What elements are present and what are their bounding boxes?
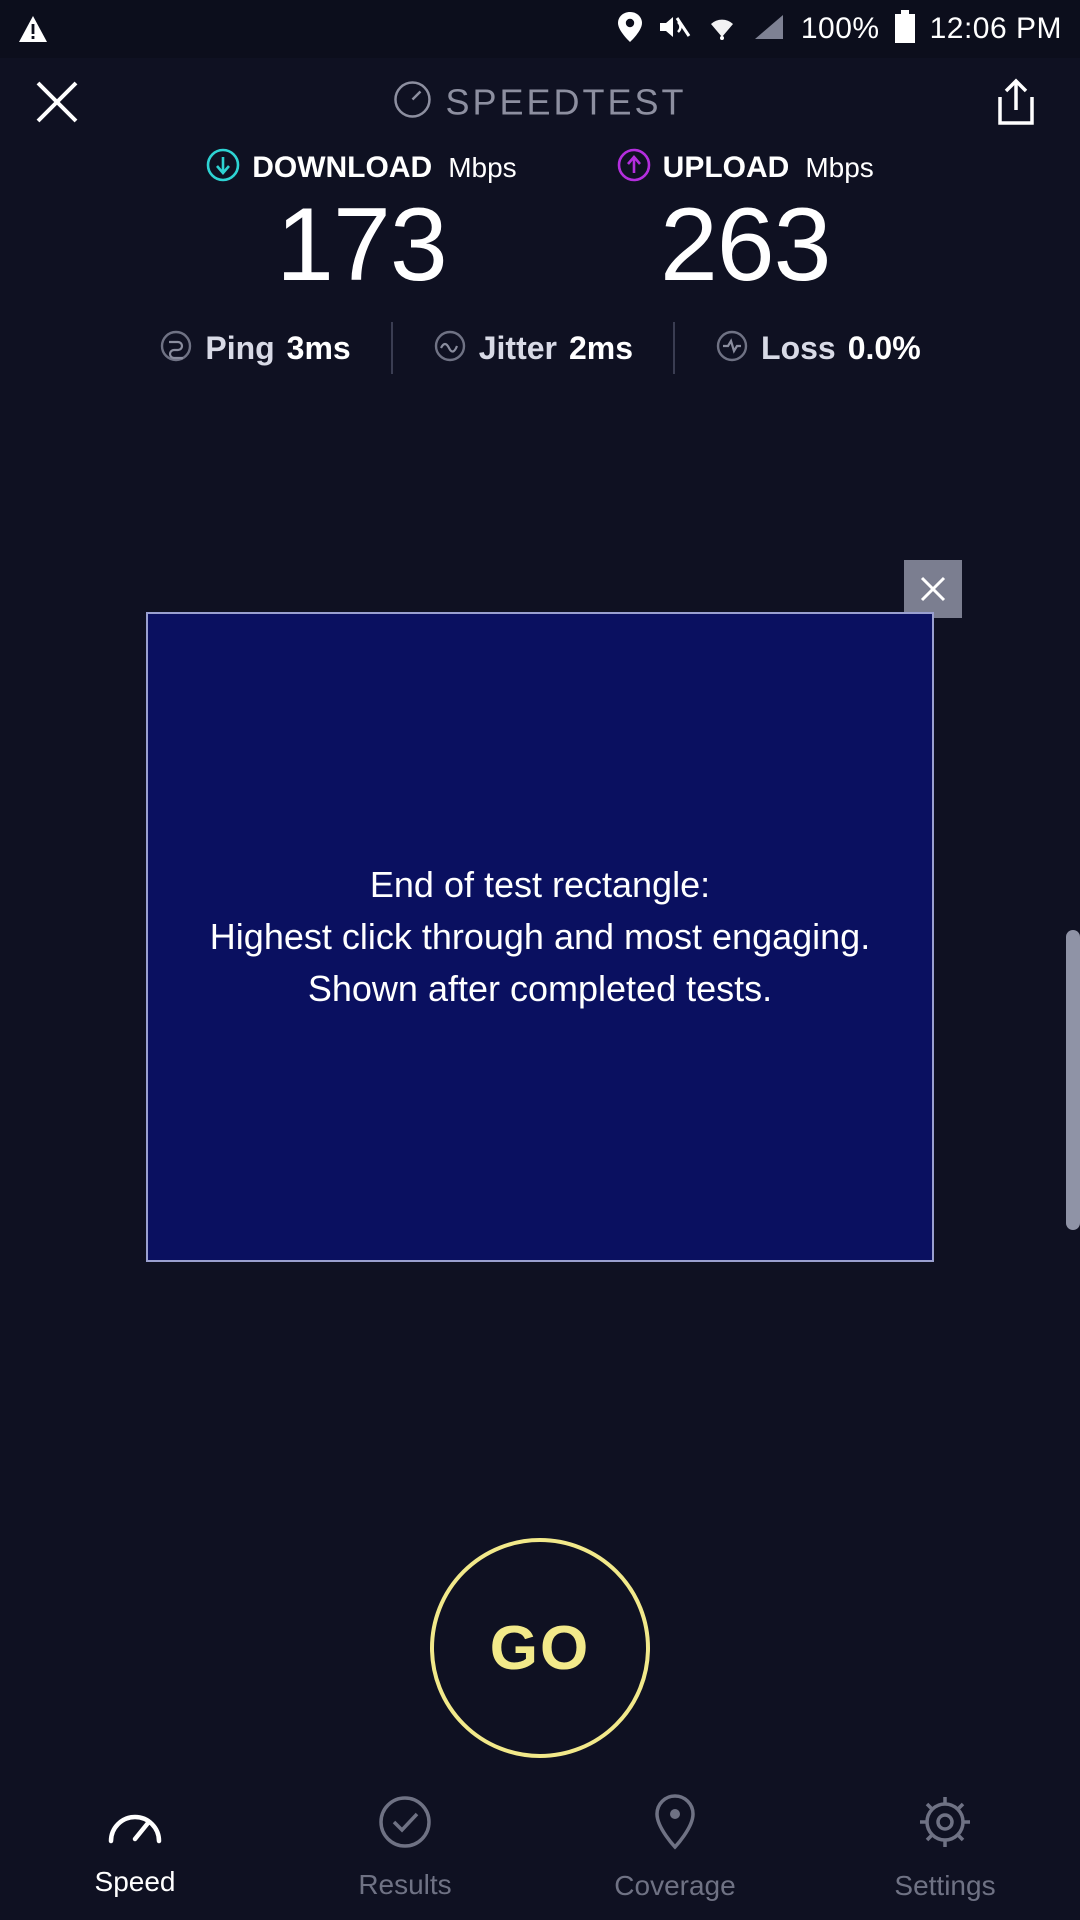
- download-header: DOWNLOAD Mbps: [206, 148, 516, 187]
- check-circle-icon: [377, 1794, 433, 1855]
- scrollbar[interactable]: [1066, 930, 1080, 1230]
- advertisement: End of test rectangle: Highest click thr…: [146, 612, 934, 1262]
- latency-metrics-row: Ping 3ms Jitter 2ms: [0, 322, 1080, 374]
- ping-label: Ping: [205, 330, 274, 367]
- ad-line-2: Highest click through and most engaging.: [210, 911, 870, 963]
- speed-metrics-row: DOWNLOAD Mbps 173 UPLOAD Mbps: [0, 148, 1080, 300]
- wifi-icon: [705, 13, 739, 46]
- loss-label: Loss: [761, 330, 836, 367]
- gear-icon: [916, 1793, 974, 1856]
- ping-metric: Ping 3ms: [119, 329, 390, 368]
- status-bar-left: [18, 15, 48, 43]
- nav-label-coverage: Coverage: [614, 1870, 735, 1902]
- brand-title: SPEEDTEST: [445, 81, 686, 123]
- clock-label: 12:06 PM: [930, 12, 1062, 46]
- warning-triangle-icon: [18, 15, 48, 43]
- ad-banner[interactable]: End of test rectangle: Highest click thr…: [146, 612, 934, 1262]
- share-icon[interactable]: [994, 77, 1038, 127]
- battery-full-icon: [894, 10, 916, 49]
- cellular-signal-icon: [753, 13, 787, 46]
- loss-value: 0.0%: [848, 330, 921, 367]
- brand: SPEEDTEST: [393, 81, 686, 124]
- status-bar-right: 100% 12:06 PM: [617, 10, 1062, 49]
- download-value: 173: [276, 191, 447, 300]
- upload-arrow-icon: [617, 148, 651, 187]
- nav-label-settings: Settings: [894, 1870, 995, 1902]
- volume-mute-icon: [657, 12, 691, 47]
- test-results: DOWNLOAD Mbps 173 UPLOAD Mbps: [0, 140, 1080, 374]
- jitter-icon: [433, 329, 467, 368]
- nav-item-results[interactable]: Results: [270, 1794, 540, 1901]
- nav-item-speed[interactable]: Speed: [0, 1797, 270, 1898]
- nav-item-settings[interactable]: Settings: [810, 1793, 1080, 1902]
- jitter-label: Jitter: [479, 330, 557, 367]
- go-button-label: GO: [490, 1613, 590, 1684]
- status-bar: 100% 12:06 PM: [0, 0, 1080, 58]
- ad-close-icon[interactable]: [904, 560, 962, 618]
- download-arrow-icon: [206, 148, 240, 187]
- upload-value: 263: [660, 191, 831, 300]
- speedometer-icon: [106, 1797, 164, 1852]
- loss-icon: [715, 329, 749, 368]
- upload-label: UPLOAD: [663, 151, 790, 185]
- location-pin-icon: [617, 11, 643, 48]
- bottom-navigation: Speed Results Coverage: [0, 1775, 1080, 1920]
- close-icon[interactable]: [34, 79, 80, 125]
- upload-header: UPLOAD Mbps: [617, 148, 874, 187]
- battery-percent-label: 100%: [801, 12, 880, 46]
- go-button[interactable]: GO: [430, 1538, 650, 1758]
- ping-value: 3ms: [287, 330, 351, 367]
- nav-item-coverage[interactable]: Coverage: [540, 1793, 810, 1902]
- ping-icon: [159, 329, 193, 368]
- jitter-metric: Jitter 2ms: [393, 329, 673, 368]
- ad-line-1: End of test rectangle:: [210, 859, 870, 911]
- ad-text: End of test rectangle: Highest click thr…: [190, 859, 890, 1016]
- download-metric: DOWNLOAD Mbps 173: [206, 148, 516, 300]
- download-unit: Mbps: [448, 152, 516, 184]
- nav-label-speed: Speed: [95, 1866, 176, 1898]
- app-top-bar: SPEEDTEST: [0, 58, 1080, 146]
- ad-line-3: Shown after completed tests.: [210, 963, 870, 1015]
- upload-unit: Mbps: [805, 152, 873, 184]
- speedometer-logo-icon: [393, 81, 431, 124]
- download-label: DOWNLOAD: [252, 151, 432, 185]
- jitter-value: 2ms: [569, 330, 633, 367]
- map-pin-icon: [653, 1793, 697, 1856]
- loss-metric: Loss 0.0%: [675, 329, 961, 368]
- nav-label-results: Results: [358, 1869, 451, 1901]
- upload-metric: UPLOAD Mbps 263: [617, 148, 874, 300]
- speedtest-app-screen: 100% 12:06 PM SPEE: [0, 0, 1080, 1920]
